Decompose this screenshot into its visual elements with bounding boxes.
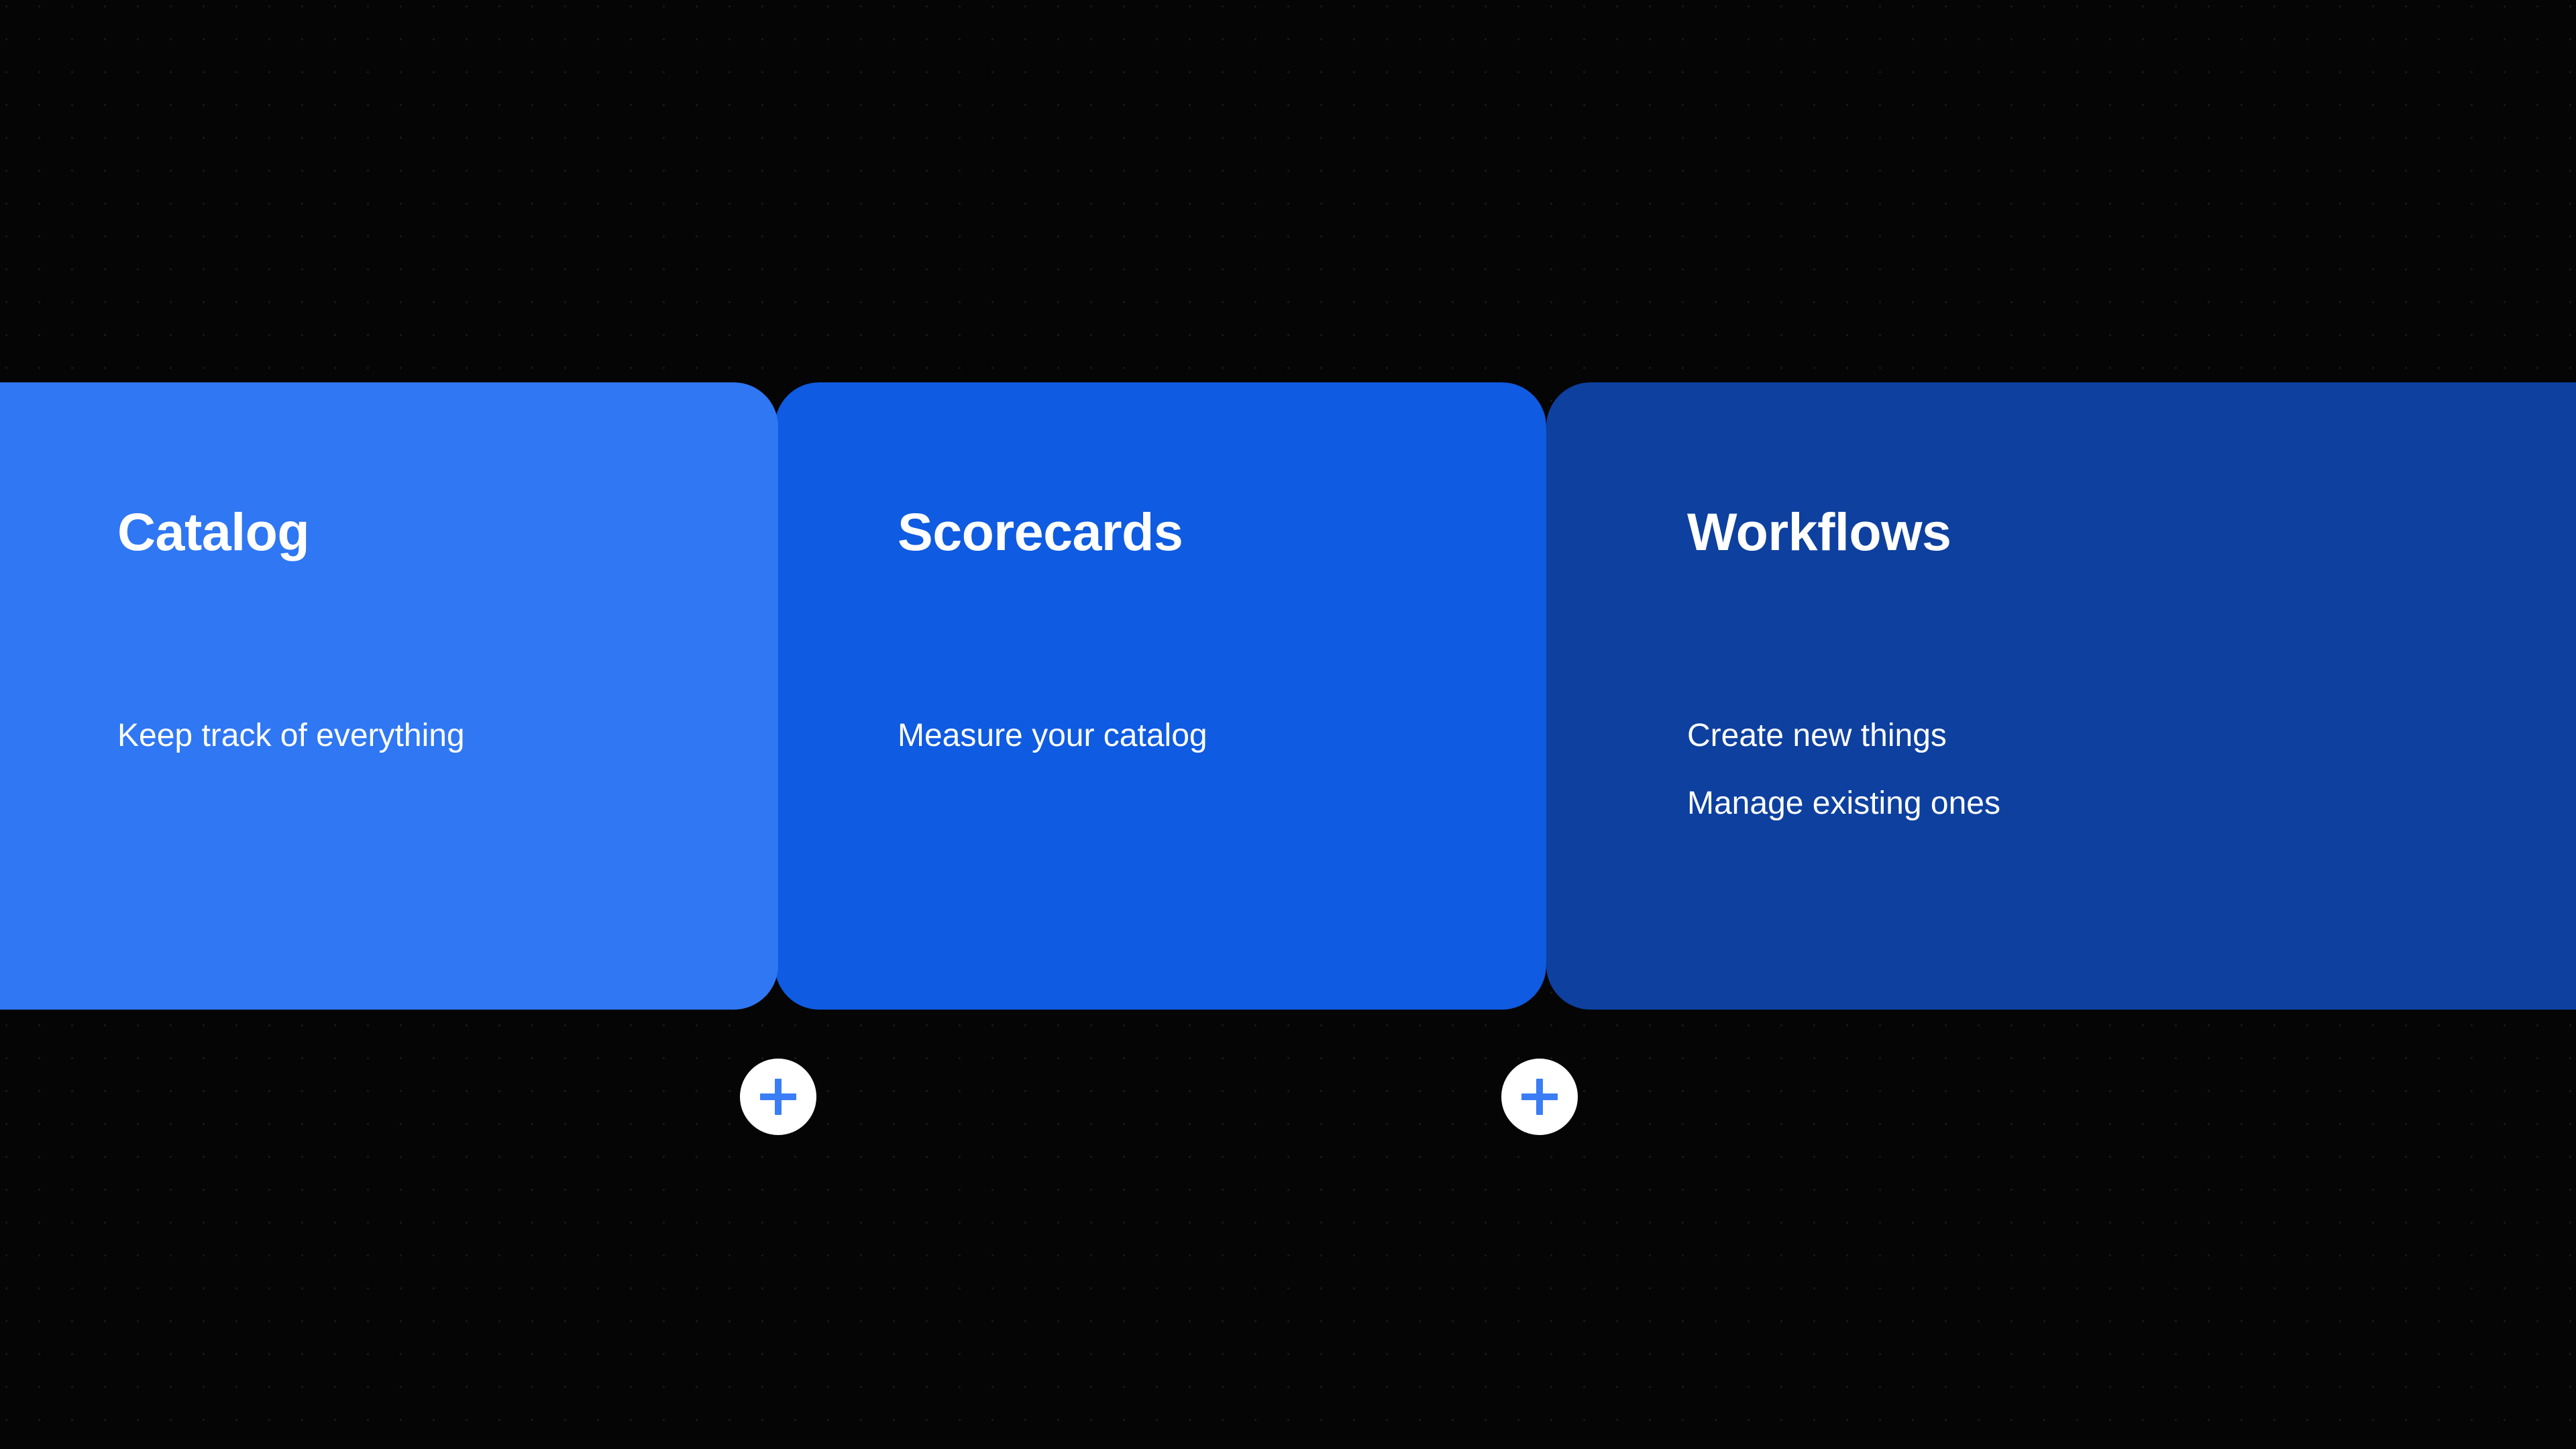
page-background: Catalog Keep track of everything Scoreca… [0,0,2576,1449]
card-body-workflows: Create new things Manage existing ones [1687,714,2291,825]
card-body-line: Measure your catalog [898,714,1407,757]
card-content-catalog: Catalog Keep track of everything [0,382,778,1010]
connector-plus-badge-2[interactable] [1501,1059,1578,1135]
card-title-scorecards: Scorecards [898,505,1183,558]
connector-plus-badge-1[interactable] [740,1059,816,1135]
card-body-line: Create new things [1687,714,2291,757]
feature-flow: Catalog Keep track of everything Scoreca… [0,382,2576,1013]
feature-card-scorecards[interactable]: Scorecards Measure your catalog [775,382,1546,1010]
feature-card-catalog[interactable]: Catalog Keep track of everything [0,382,778,1010]
card-content-workflows: Workflows Create new things Manage exist… [1546,382,2576,1010]
card-body-scorecards: Measure your catalog [898,714,1407,757]
plus-icon [1521,1079,1558,1115]
feature-card-workflows[interactable]: Workflows Create new things Manage exist… [1546,382,2576,1010]
card-title-catalog: Catalog [117,505,309,558]
card-body-line: Keep track of everything [117,714,533,757]
card-body-line: Manage existing ones [1687,782,2291,824]
plus-icon [760,1079,796,1115]
card-body-catalog: Keep track of everything [117,714,533,757]
card-title-workflows: Workflows [1687,505,1951,558]
card-content-scorecards: Scorecards Measure your catalog [775,382,1546,1010]
